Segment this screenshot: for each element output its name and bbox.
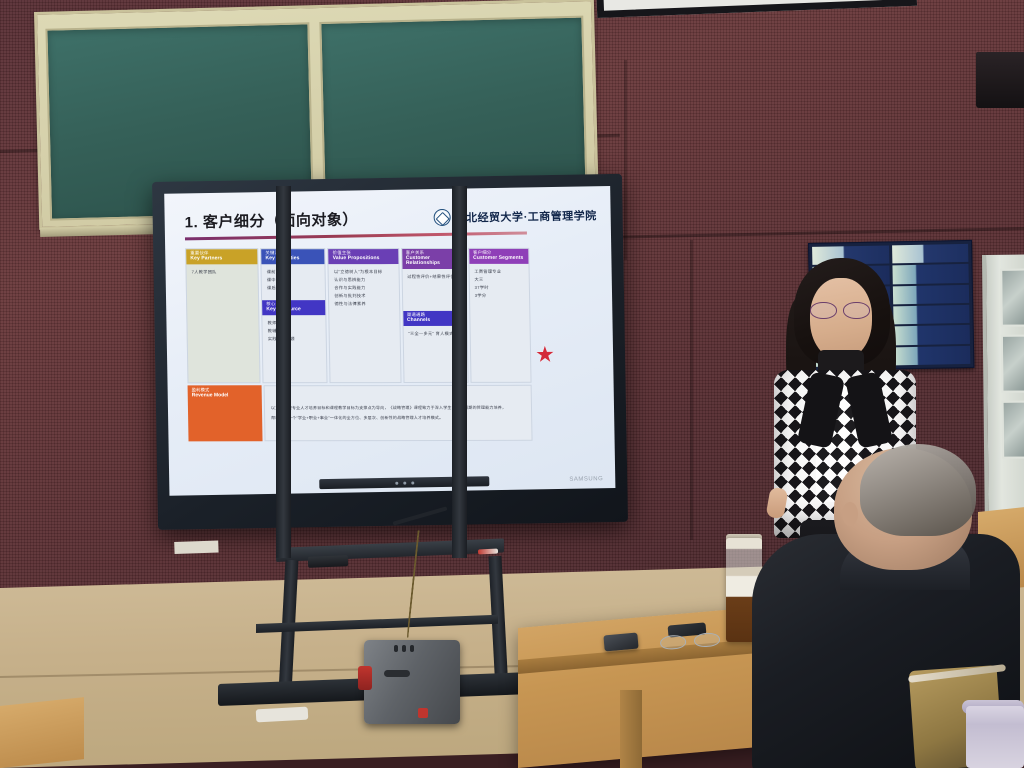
canvas-header-revenue-model: 盈利模式 Revenue Model xyxy=(188,385,263,441)
canvas-body-key-activities: 课前融入 课中转化 课后延伸 xyxy=(262,264,326,298)
canvas-column-value-propositions: 价值主张 Value Propositions 以"立德树人"为根本目标 认识与… xyxy=(328,248,402,383)
amplifier-side-panel xyxy=(358,666,372,690)
canvas-item: 认识与思辨能力 xyxy=(334,275,394,283)
canvas-header-key-partners: 重要伙伴 Key Partners xyxy=(186,249,257,264)
canvas-item: 德性与法律素养 xyxy=(334,299,394,307)
hair xyxy=(860,444,976,536)
canvas-header-customer-segments: 客户细分 Customer Segments xyxy=(469,248,529,263)
header-en: Value Propositions xyxy=(333,255,395,260)
canvas-header-key-activities: 关键活动 Key Activities xyxy=(261,249,324,264)
canvas-item: 7人教学团队 xyxy=(192,268,254,276)
title-underline xyxy=(185,231,527,239)
amplifier-knob[interactable] xyxy=(410,645,414,652)
canvas-item: 以"立德树人"为根本目标 xyxy=(334,267,394,275)
canvas-header-key-resource: 核心资源 Key Resource xyxy=(262,300,325,315)
presentation-slide: 1. 客户细分（面向对象） 河北经贸大学·工商管理学院 重要伙伴 Key Par xyxy=(164,186,615,496)
interactive-smartboard[interactable]: 1. 客户细分（面向对象） 河北经贸大学·工商管理学院 重要伙伴 Key Par xyxy=(152,174,628,530)
canvas-item: 3学分 xyxy=(475,291,525,299)
revenue-line: 以工商管理专业人才培养目标和课程教学目标为支撑点为导向，《战略管理》课程致力于深… xyxy=(271,404,525,410)
business-model-canvas: 重要伙伴 Key Partners 7人教学团队 关键活动 Key Ac xyxy=(185,247,532,440)
canvas-item: 课前融入 xyxy=(267,268,321,276)
board-brand-label: SAMSUNG xyxy=(569,476,603,483)
ear xyxy=(842,502,858,526)
cabinet-glass-pane xyxy=(1000,269,1024,327)
header-zh: 价值主张 xyxy=(333,251,395,256)
stand-post-left xyxy=(276,186,291,558)
board-indicator-dot xyxy=(403,481,406,484)
amplifier-knob[interactable] xyxy=(394,645,398,652)
canvas-body-revenue-model: 以工商管理专业人才培养目标和课程教学目标为支撑点为导向，《战略管理》课程致力于深… xyxy=(264,384,533,440)
header-zh: 客户细分 xyxy=(473,250,525,255)
canvas-item: 创新与批判技术 xyxy=(334,291,394,299)
canvas-item: 37学时 xyxy=(475,283,525,291)
canvas-top-row: 重要伙伴 Key Partners 7人教学团队 关键活动 Key Ac xyxy=(185,247,531,382)
mobile-phone[interactable] xyxy=(603,633,638,652)
header-en: Key Resource xyxy=(266,306,322,311)
university-logo-text: 河北经贸大学·工商管理学院 xyxy=(454,207,596,225)
header-en: Key Activities xyxy=(265,255,321,260)
canvas-item: 大三 xyxy=(474,275,524,283)
classroom-scene: 1. 客户细分（面向对象） 河北经贸大学·工商管理学院 重要伙伴 Key Par xyxy=(0,0,1024,768)
stand-post-right xyxy=(452,186,467,558)
amplifier-handle xyxy=(384,670,410,677)
desk-leg xyxy=(620,690,642,768)
board-indicator-dot xyxy=(411,481,414,484)
marker-pen[interactable] xyxy=(478,548,498,554)
wall-seam xyxy=(690,240,693,540)
header-en: Key Partners xyxy=(190,255,254,260)
ceiling-speaker-unit xyxy=(976,52,1024,108)
university-crest-icon xyxy=(433,209,450,226)
canvas-body-key-partners: 7人教学团队 xyxy=(186,264,259,382)
lidded-cup[interactable] xyxy=(966,706,1024,768)
canvas-body-key-resource: 教师团队 教辅资源 实践教学资源 xyxy=(262,314,326,348)
canvas-item: 合作与实践能力 xyxy=(334,283,394,291)
lens-right xyxy=(843,302,870,319)
header-en: Customer Segments xyxy=(473,255,525,260)
remote-control[interactable] xyxy=(308,555,348,568)
canvas-header-value-propositions: 价值主张 Value Propositions xyxy=(329,249,398,264)
canvas-body-value-propositions: 以"立德树人"为根本目标 认识与思辨能力 合作与实践能力 创新与批判技术 德性与… xyxy=(329,263,400,381)
lens-left xyxy=(810,302,837,319)
header-zh: 核心资源 xyxy=(266,302,322,307)
wall-seam xyxy=(624,60,627,260)
canvas-column-customer-segments: 客户细分 Customer Segments 工商管理专业 大三 37学时 3学… xyxy=(468,247,532,382)
header-zh: 重要伙伴 xyxy=(190,251,254,256)
slide-header: 1. 客户细分（面向对象） 河北经贸大学·工商管理学院 xyxy=(185,204,597,232)
eyeglasses-worn xyxy=(810,302,876,320)
lens-left xyxy=(660,634,687,650)
amplifier-knob[interactable] xyxy=(402,645,406,652)
header-zh: 关键活动 xyxy=(265,251,321,256)
canvas-column-key-activities: 关键活动 Key Activities 课前融入 课中转化 课后延伸 核心资源 … xyxy=(260,248,328,383)
board-indicator-dot xyxy=(395,481,398,484)
side-desk-left xyxy=(0,697,84,768)
canvas-item: 工商管理专业 xyxy=(474,267,524,275)
cabinet-glass-pane xyxy=(1001,335,1024,393)
canvas-body-customer-segments: 工商管理专业 大三 37学时 3学分 xyxy=(469,263,530,381)
board-display[interactable]: 1. 客户细分（面向对象） 河北经贸大学·工商管理学院 重要伙伴 Key Par xyxy=(164,186,615,496)
canvas-item: 课中转化 xyxy=(267,276,321,284)
header-en: Revenue Model xyxy=(192,392,258,397)
portable-amplifier[interactable] xyxy=(364,640,460,724)
amplifier-badge xyxy=(418,708,428,718)
slide-title: 1. 客户细分（面向对象） xyxy=(185,208,359,232)
board-label-sticker xyxy=(174,541,218,555)
lens-right xyxy=(694,632,721,648)
canvas-column-key-partners: 重要伙伴 Key Partners 7人教学团队 xyxy=(185,248,260,383)
power-strip[interactable] xyxy=(256,707,309,723)
amplifier-controls[interactable] xyxy=(394,645,414,652)
revenue-line: 帮助构建一个"学业+职业+事业"一体化的全方位、多层次、创新性的战略管理人才培养… xyxy=(271,414,525,420)
canvas-bottom-row: 盈利模式 Revenue Model 以工商管理专业人才培养目标和课程教学目标为… xyxy=(188,384,533,441)
